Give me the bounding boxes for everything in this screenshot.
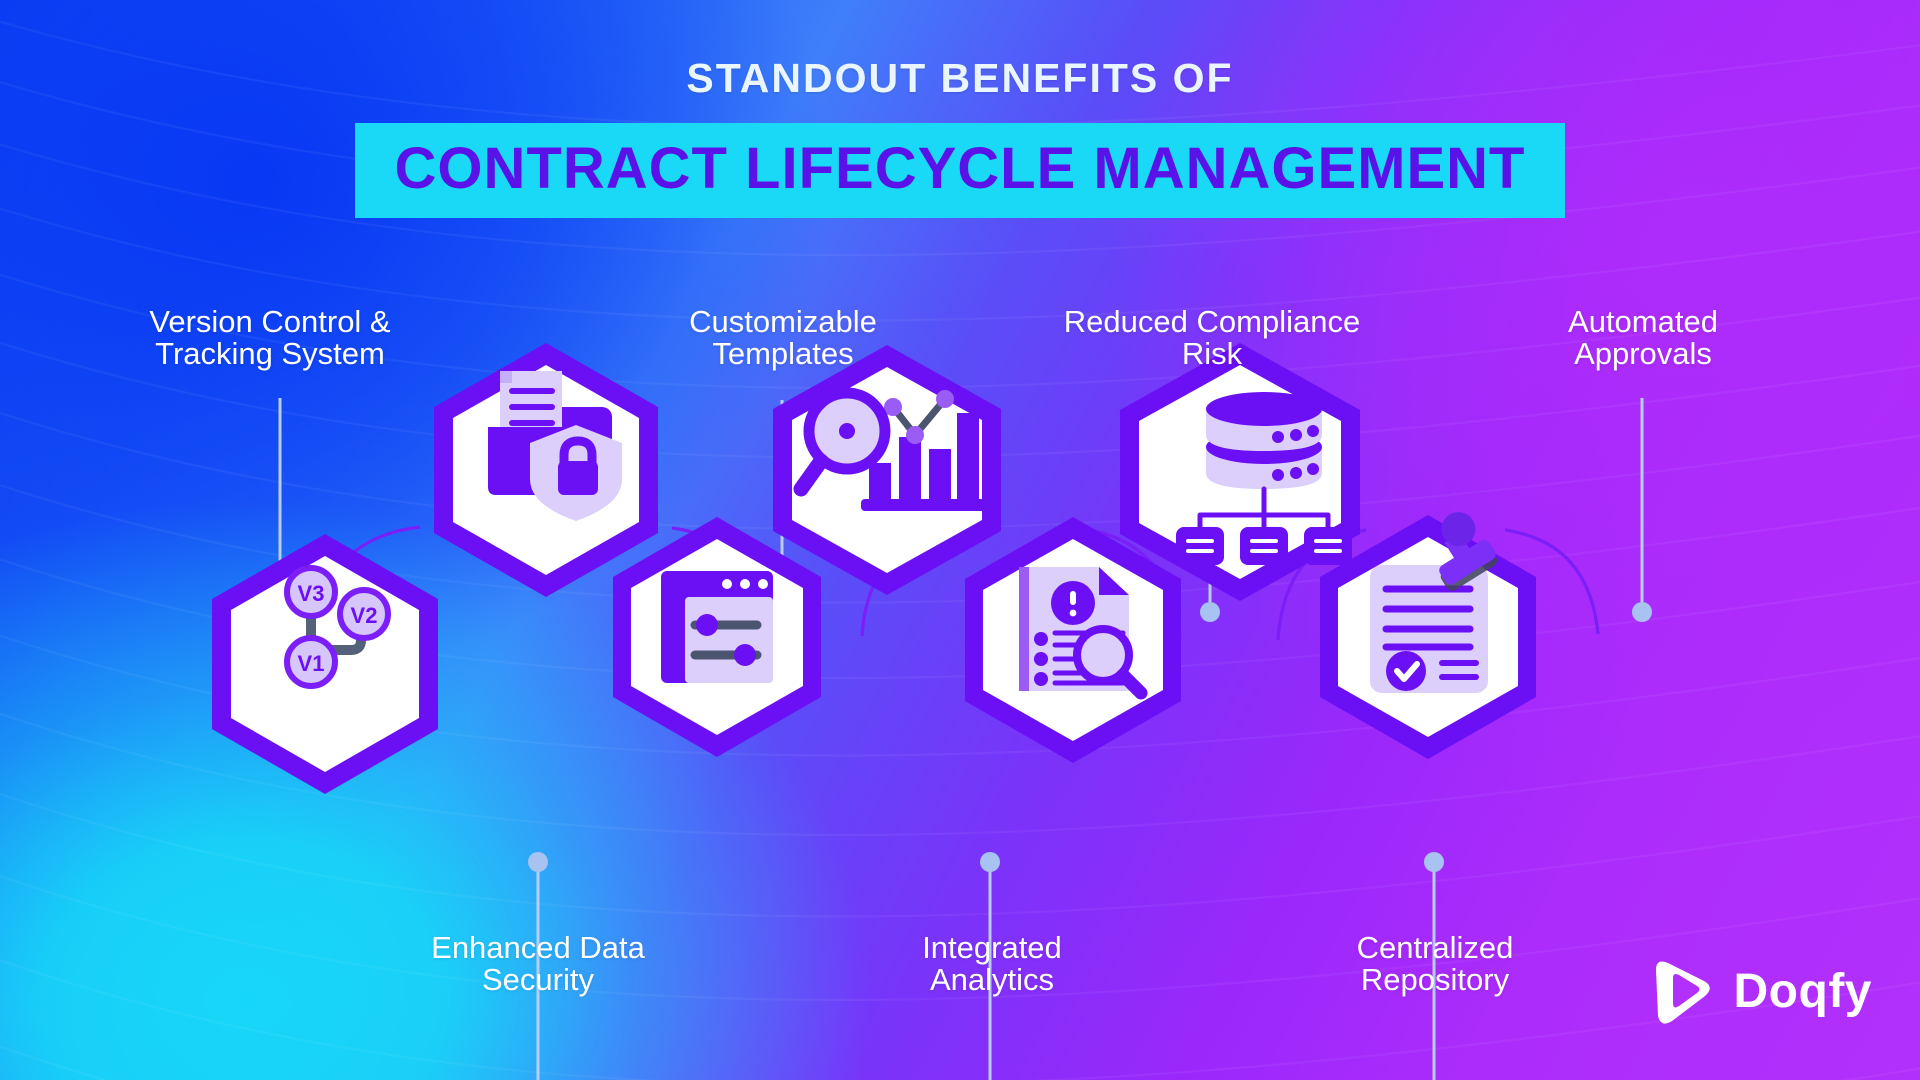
- hexagon-enhanced-data-security[interactable]: [434, 343, 658, 597]
- svg-text:V3: V3: [298, 581, 325, 606]
- brand-logo[interactable]: Doqfy: [1642, 954, 1872, 1028]
- window-sliders-icon: [661, 571, 773, 683]
- label-automated-approvals: Automated Approvals: [1480, 306, 1806, 370]
- infographic-canvas: STANDOUT BENEFITS OF CONTRACT LIFECYCLE …: [0, 0, 1920, 1080]
- label-centralized-repository: Centralized Repository: [1272, 932, 1598, 996]
- hexagon-integrated-analytics[interactable]: [773, 345, 1001, 595]
- label-version-control: Version Control & Tracking System: [90, 306, 450, 370]
- hexagon-reduced-compliance-risk[interactable]: [965, 517, 1181, 763]
- play-triangle-icon: [1642, 954, 1716, 1028]
- hexagon-customizable-templates[interactable]: [613, 517, 821, 757]
- hexagon-automated-approvals[interactable]: [1320, 505, 1536, 759]
- svg-text:V1: V1: [298, 651, 325, 676]
- brand-name: Doqfy: [1734, 964, 1872, 1019]
- title-highlight-bar: CONTRACT LIFECYCLE MANAGEMENT: [355, 123, 1566, 218]
- page-title: CONTRACT LIFECYCLE MANAGEMENT: [395, 140, 1526, 198]
- label-enhanced-data-security: Enhanced Data Security: [368, 932, 708, 996]
- hexagon-version-control[interactable]: V3 V2 V1: [212, 534, 438, 794]
- label-integrated-analytics: Integrated Analytics: [830, 932, 1154, 996]
- label-reduced-compliance-risk: Reduced Compliance Risk: [1010, 306, 1414, 370]
- svg-text:V2: V2: [351, 603, 378, 628]
- eyebrow-text: STANDOUT BENEFITS OF: [0, 58, 1920, 99]
- label-customizable-templates: Customizable Templates: [620, 306, 946, 370]
- heading-block: STANDOUT BENEFITS OF CONTRACT LIFECYCLE …: [0, 58, 1920, 218]
- hexagon-centralized-repository[interactable]: [1120, 343, 1360, 601]
